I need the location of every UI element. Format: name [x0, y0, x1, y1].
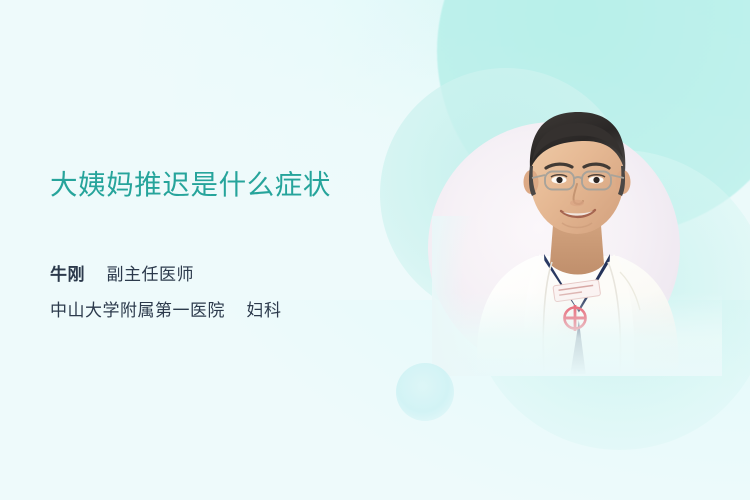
hero-text-block: 大姨妈推迟是什么症状 牛刚 副主任医师 中山大学附属第一医院 妇科: [50, 168, 430, 323]
doctor-name-and-title: 牛刚 副主任医师: [50, 264, 430, 287]
page-title: 大姨妈推迟是什么症状: [50, 168, 430, 202]
doctor-credentials: 牛刚 副主任医师 中山大学附属第一医院 妇科: [50, 264, 430, 323]
doctor-name: 牛刚: [50, 265, 85, 284]
decorative-small-circle: [396, 363, 454, 421]
doctor-department: 妇科: [246, 301, 281, 320]
doctor-affiliation-and-department: 中山大学附属第一医院 妇科: [50, 300, 430, 323]
doctor-qa-hero-card: 大姨妈推迟是什么症状 牛刚 副主任医师 中山大学附属第一医院 妇科: [0, 0, 750, 500]
doctor-title: 副主任医师: [106, 265, 194, 284]
doctor-affiliation: 中山大学附属第一医院: [50, 301, 225, 320]
doctor-portrait-photo: [432, 96, 722, 376]
